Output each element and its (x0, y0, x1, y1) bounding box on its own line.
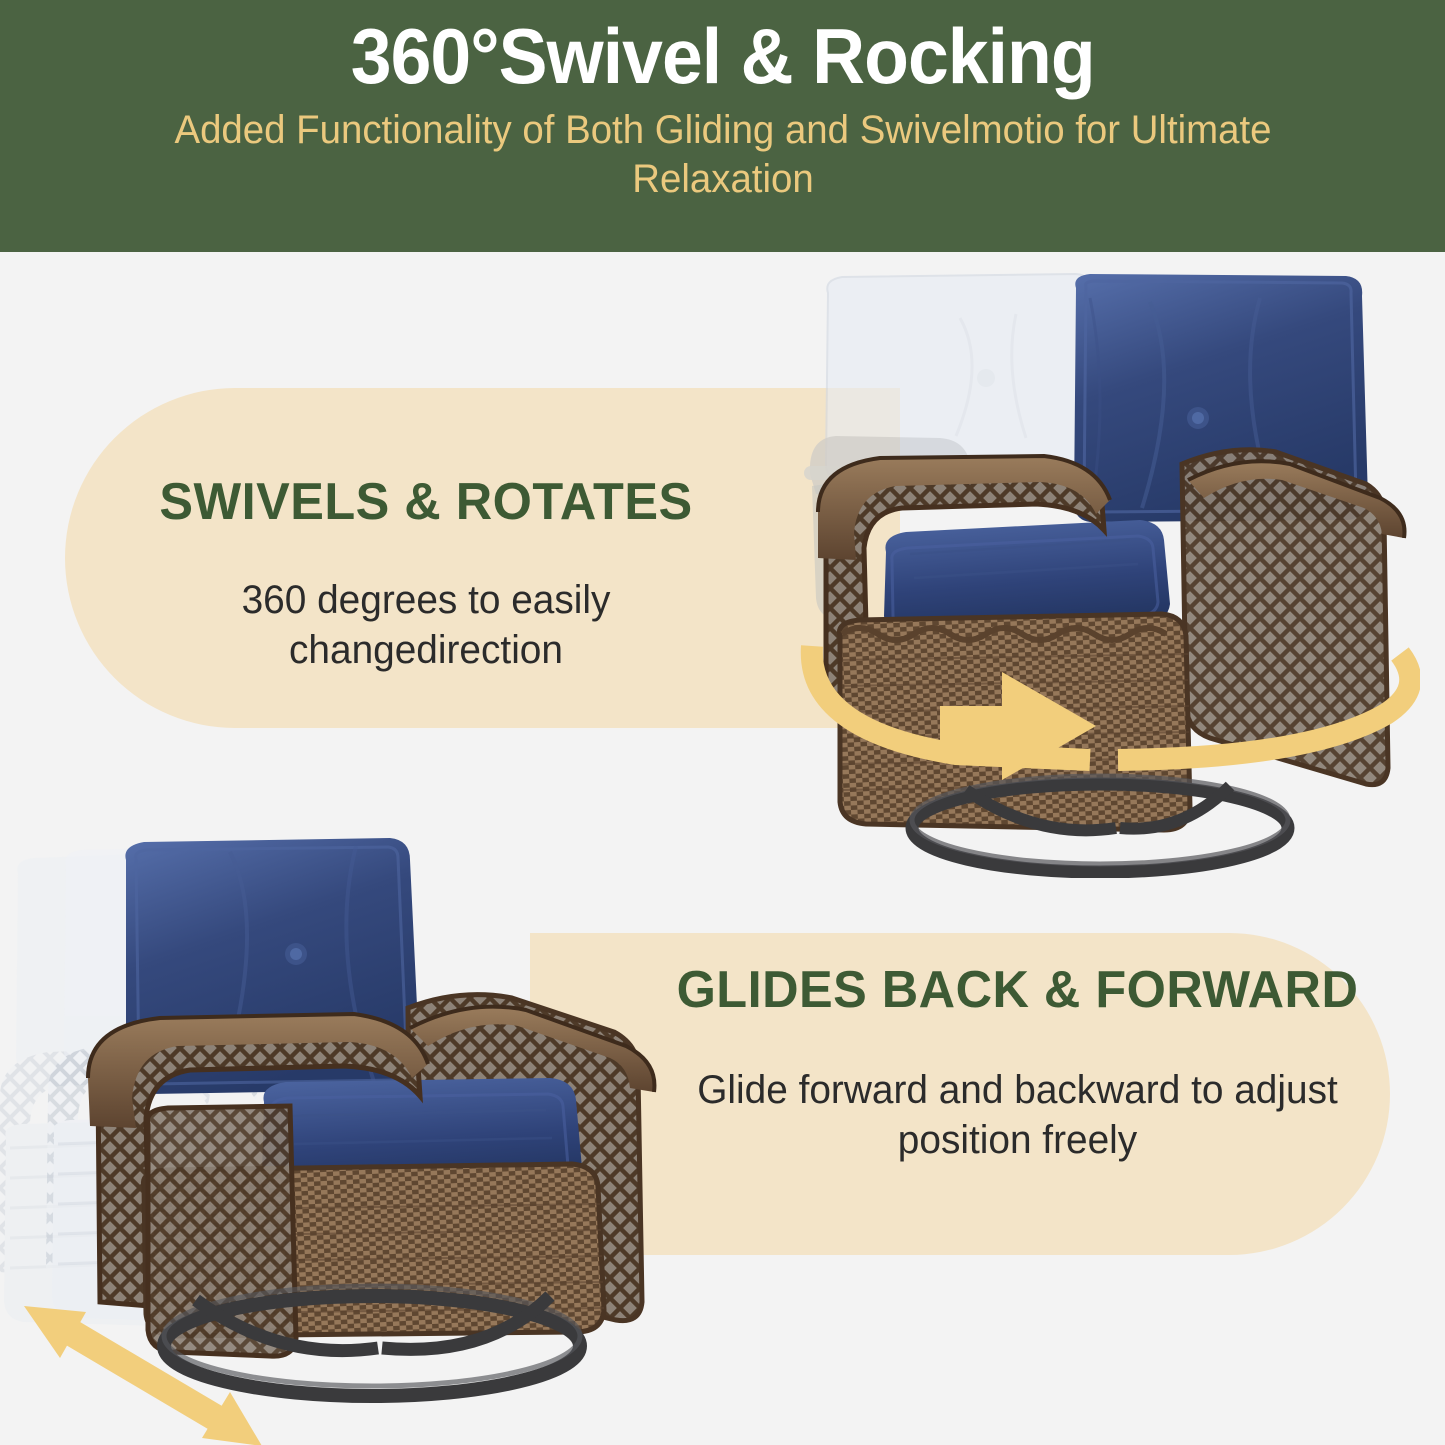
feature-heading-glides: GLIDES BACK & FORWARD (671, 960, 1365, 1021)
chair-image-swivel (790, 268, 1420, 878)
header-banner: 360°Swivel & Rocking Added Functionality… (0, 0, 1445, 252)
feature-heading-swivels: SWIVELS & ROTATES (106, 472, 746, 533)
chair-image-glide (0, 838, 670, 1445)
infographic-page: 360°Swivel & Rocking Added Functionality… (0, 0, 1445, 1445)
feature-body-swivels: 360 degrees to easily changedirection (106, 575, 746, 675)
chair-main-glide (88, 838, 654, 1396)
page-subtitle: Added Functionality of Both Gliding and … (118, 106, 1328, 204)
feature-body-glides: Glide forward and backward to adjust pos… (671, 1065, 1365, 1165)
feature-text-swivels: SWIVELS & ROTATES 360 degrees to easily … (96, 472, 756, 675)
feature-text-glides: GLIDES BACK & FORWARD Glide forward and … (660, 960, 1375, 1165)
page-title: 360°Swivel & Rocking (350, 14, 1094, 100)
